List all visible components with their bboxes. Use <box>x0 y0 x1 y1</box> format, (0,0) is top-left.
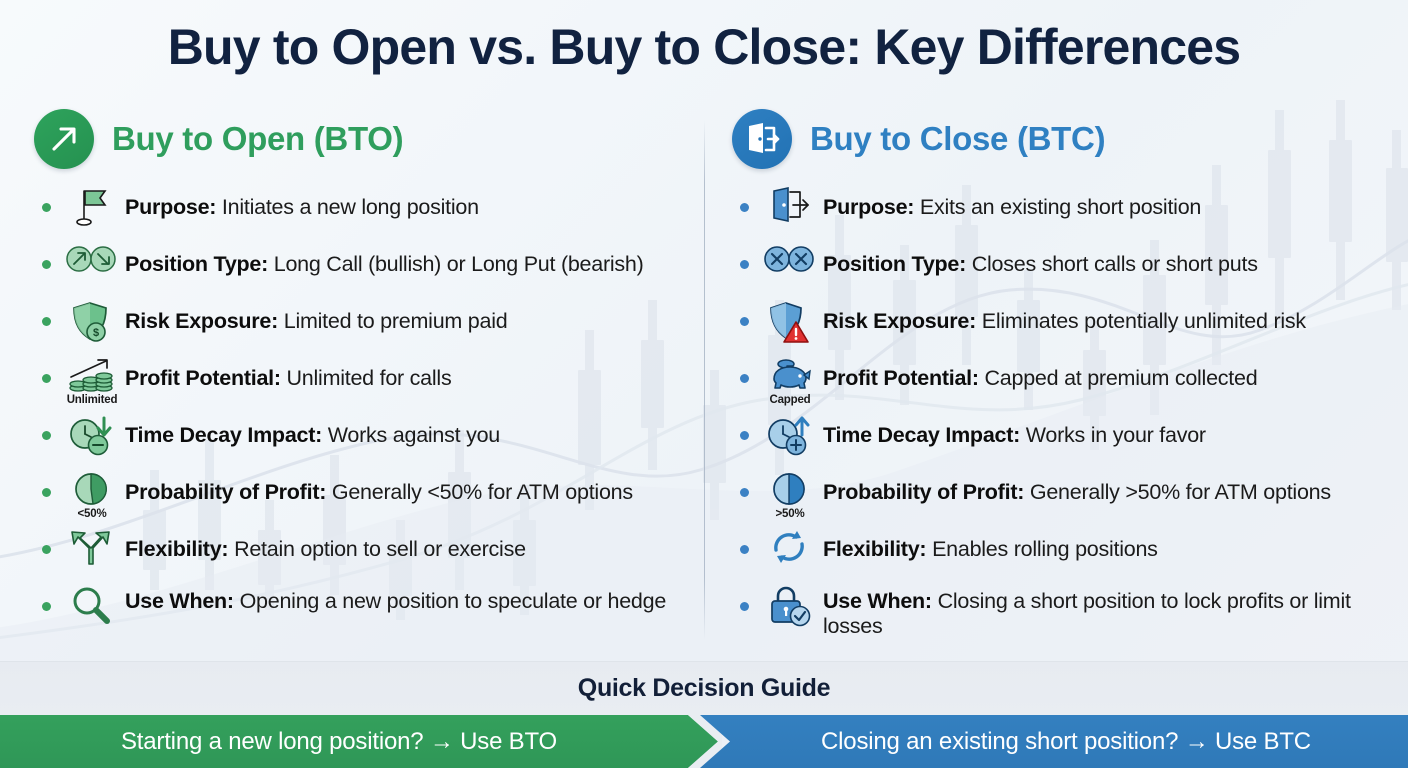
row-profit-potential: Unlimited Profit Potential: Unlimited fo… <box>34 353 694 410</box>
svg-text:$: $ <box>93 327 99 339</box>
bullet-dot <box>42 374 51 383</box>
bullet-dot <box>42 260 51 269</box>
refresh-cycle-icon <box>763 528 817 578</box>
row-value: Generally >50% for ATM options <box>1030 480 1331 504</box>
row-purpose: Purpose: Exits an existing short positio… <box>732 182 1392 239</box>
row-label: Time Decay Impact: <box>823 423 1026 447</box>
bullet-dot <box>740 317 749 326</box>
column-bto: Buy to Open (BTO) Purpose: <box>34 108 694 643</box>
row-text: Use When: Opening a new position to spec… <box>119 583 666 614</box>
row-label: Risk Exposure: <box>125 309 284 333</box>
banner-bto[interactable]: Starting a new long position? → Use BTO <box>0 715 718 768</box>
row-text: Risk Exposure: Eliminates potentially un… <box>817 298 1306 334</box>
row-text: Probability of Profit: Generally <50% fo… <box>119 469 633 505</box>
bullet-dot <box>740 203 749 212</box>
decision-banners: Starting a new long position? → Use BTO … <box>0 715 1408 768</box>
two-arrow-circles-icon <box>65 243 119 293</box>
coins-growth-icon: Unlimited <box>65 357 119 407</box>
row-purpose: Purpose: Initiates a new long position <box>34 182 694 239</box>
row-text: Flexibility: Enables rolling positions <box>817 526 1158 562</box>
row-label: Flexibility: <box>823 537 932 561</box>
clock-up-plus-icon <box>763 414 817 464</box>
bullet-dot <box>42 488 51 497</box>
column-btc: Buy to Close (BTC) <box>732 108 1392 643</box>
lock-check-icon <box>763 585 817 635</box>
row-flexibility: Flexibility: Retain option to sell or ex… <box>34 524 694 581</box>
row-text: Time Decay Impact: Works in your favor <box>817 412 1206 448</box>
row-text: Position Type: Long Call (bullish) or Lo… <box>119 241 644 277</box>
row-text: Profit Potential: Unlimited for calls <box>119 355 451 391</box>
row-text: Purpose: Exits an existing short positio… <box>817 184 1201 220</box>
row-label: Profit Potential: <box>823 366 985 390</box>
banner-bto-label: Starting a new long position? → Use BTO <box>121 728 557 756</box>
banner-btc[interactable]: Closing an existing short position? → Us… <box>700 715 1408 768</box>
row-risk-exposure: $ Risk Exposure: Limited to premium paid <box>34 296 694 353</box>
magnifier-icon <box>65 585 119 635</box>
column-header-btc: Buy to Close (BTC) <box>732 108 1392 170</box>
row-use-when: Use When: Opening a new position to spec… <box>34 581 694 643</box>
rows-btc: Purpose: Exits an existing short positio… <box>732 182 1392 643</box>
row-label: Use When: <box>823 589 938 613</box>
row-time-decay: Time Decay Impact: Works in your favor <box>732 410 1392 467</box>
row-text: Probability of Profit: Generally >50% fo… <box>817 469 1331 505</box>
shield-dollar-icon: $ <box>65 300 119 350</box>
row-value: Capped at premium collected <box>985 366 1258 390</box>
page-title: Buy to Open vs. Buy to Close: Key Differ… <box>0 18 1408 76</box>
column-title-btc: Buy to Close (BTC) <box>810 120 1105 158</box>
row-text: Purpose: Initiates a new long position <box>119 184 479 220</box>
bullet-dot <box>42 431 51 440</box>
row-value: Limited to premium paid <box>284 309 508 333</box>
two-x-circles-icon <box>763 243 817 293</box>
row-value: Enables rolling positions <box>932 537 1158 561</box>
row-value: Retain option to sell or exercise <box>234 537 526 561</box>
row-value: Initiates a new long position <box>222 195 479 219</box>
flag-icon <box>65 186 119 236</box>
row-label: Risk Exposure: <box>823 309 982 333</box>
banner-btc-label: Closing an existing short position? → Us… <box>821 728 1311 756</box>
column-header-bto: Buy to Open (BTO) <box>34 108 694 170</box>
clock-down-minus-icon <box>65 414 119 464</box>
door-exit-icon <box>763 186 817 236</box>
bullet-dot <box>740 431 749 440</box>
bullet-dot <box>42 545 51 554</box>
row-label: Probability of Profit: <box>823 480 1030 504</box>
row-value: Eliminates potentially unlimited risk <box>982 309 1306 333</box>
row-label: Purpose: <box>125 195 222 219</box>
row-value: Opening a new position to speculate or h… <box>240 589 666 613</box>
row-position-type: Position Type: Closes short calls or sho… <box>732 239 1392 296</box>
rows-bto: Purpose: Initiates a new long position <box>34 182 694 643</box>
bullet-dot <box>740 602 749 611</box>
icon-caption: >50% <box>776 508 805 520</box>
row-time-decay: Time Decay Impact: Works against you <box>34 410 694 467</box>
bullet-dot <box>740 260 749 269</box>
row-label: Probability of Profit: <box>125 480 332 504</box>
row-value: Exits an existing short position <box>920 195 1201 219</box>
row-label: Profit Potential: <box>125 366 287 390</box>
row-profit-potential: Capped Profit Potential: Capped at premi… <box>732 353 1392 410</box>
infographic-page: Buy to Open vs. Buy to Close: Key Differ… <box>0 0 1408 768</box>
row-value: Long Call (bullish) or Long Put (bearish… <box>274 252 644 276</box>
row-label: Use When: <box>125 589 240 613</box>
row-position-type: Position Type: Long Call (bullish) or Lo… <box>34 239 694 296</box>
row-label: Position Type: <box>823 252 972 276</box>
row-use-when: Use When: Closing a short position to lo… <box>732 581 1392 643</box>
quick-decision-guide-title: Quick Decision Guide <box>578 674 830 703</box>
bullet-dot <box>740 488 749 497</box>
row-flexibility: Flexibility: Enables rolling positions <box>732 524 1392 581</box>
piggy-bank-icon: Capped <box>763 357 817 407</box>
bullet-dot <box>42 317 51 326</box>
row-text: Position Type: Closes short calls or sho… <box>817 241 1258 277</box>
shield-warning-icon <box>763 300 817 350</box>
row-text: Flexibility: Retain option to sell or ex… <box>119 526 526 562</box>
quick-decision-guide-bar: Quick Decision Guide <box>0 661 1408 715</box>
row-text: Time Decay Impact: Works against you <box>119 412 500 448</box>
column-title-bto: Buy to Open (BTO) <box>112 120 403 158</box>
icon-caption: <50% <box>78 508 107 520</box>
column-divider <box>704 120 705 640</box>
icon-caption: Capped <box>770 394 811 406</box>
bullet-dot <box>740 374 749 383</box>
pie-chart-icon: >50% <box>763 471 817 521</box>
row-value: Works against you <box>328 423 500 447</box>
row-label: Flexibility: <box>125 537 234 561</box>
row-probability-of-profit: >50% Probability of Profit: Generally >5… <box>732 467 1392 524</box>
row-text: Use When: Closing a short position to lo… <box>817 583 1392 639</box>
bullet-dot <box>740 545 749 554</box>
row-text: Profit Potential: Capped at premium coll… <box>817 355 1257 391</box>
row-label: Purpose: <box>823 195 920 219</box>
row-text: Risk Exposure: Limited to premium paid <box>119 298 507 334</box>
row-probability-of-profit: <50% Probability of Profit: Generally <5… <box>34 467 694 524</box>
arrow-up-right-icon <box>34 109 94 169</box>
door-exit-icon <box>732 109 792 169</box>
row-value: Works in your favor <box>1026 423 1206 447</box>
row-label: Position Type: <box>125 252 274 276</box>
bullet-dot <box>42 602 51 611</box>
row-value: Closes short calls or short puts <box>972 252 1258 276</box>
icon-caption: Unlimited <box>67 394 118 406</box>
row-risk-exposure: Risk Exposure: Eliminates potentially un… <box>732 296 1392 353</box>
bullet-dot <box>42 203 51 212</box>
row-value: Unlimited for calls <box>287 366 452 390</box>
pie-chart-icon: <50% <box>65 471 119 521</box>
row-label: Time Decay Impact: <box>125 423 328 447</box>
fork-arrows-icon <box>65 528 119 578</box>
row-value: Generally <50% for ATM options <box>332 480 633 504</box>
